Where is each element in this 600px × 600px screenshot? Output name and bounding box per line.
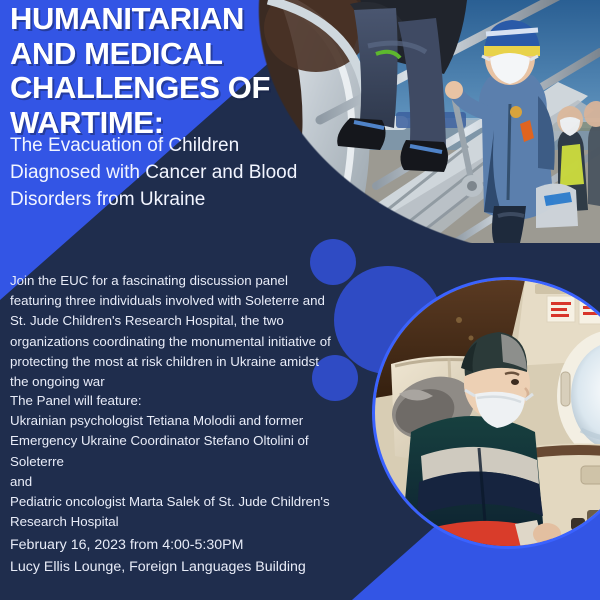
- panel-line-1: Ukrainian psychologist Tetiana Molodii a…: [10, 411, 360, 431]
- headline-line-3: CHALLENGES OF: [10, 71, 310, 106]
- panel-line-3: Soleterre: [10, 452, 360, 472]
- poster-headline: HUMANITARIAN AND MEDICAL CHALLENGES OF W…: [10, 2, 310, 141]
- panel-details: The Panel will feature: Ukrainian psycho…: [10, 391, 360, 532]
- intro-paragraph: Join the EUC for a fascinating discussio…: [10, 271, 340, 392]
- event-date-time: February 16, 2023 from 4:00-5:30PM: [10, 534, 370, 556]
- panel-heading: The Panel will feature:: [10, 391, 360, 411]
- panel-line-5: Pediatric oncologist Marta Salek of St. …: [10, 492, 360, 512]
- event-logistics: February 16, 2023 from 4:00-5:30PM Lucy …: [10, 534, 370, 578]
- event-poster: HUMANITARIAN AND MEDICAL CHALLENGES OF W…: [0, 0, 600, 600]
- intro-text: Join the EUC for a fascinating discussio…: [10, 271, 340, 392]
- poster-subheadline: The Evacuation of Children Diagnosed wit…: [10, 133, 320, 214]
- headline-line-1: HUMANITARIAN: [10, 2, 310, 37]
- event-location: Lucy Ellis Lounge, Foreign Languages Bui…: [10, 556, 370, 578]
- panel-line-4: and: [10, 472, 360, 492]
- panel-line-2: Emergency Ukraine Coordinator Stefano Ol…: [10, 431, 360, 451]
- headline-line-2: AND MEDICAL: [10, 37, 310, 72]
- cabin-child-photo: [375, 280, 600, 546]
- panel-line-6: Research Hospital: [10, 512, 360, 532]
